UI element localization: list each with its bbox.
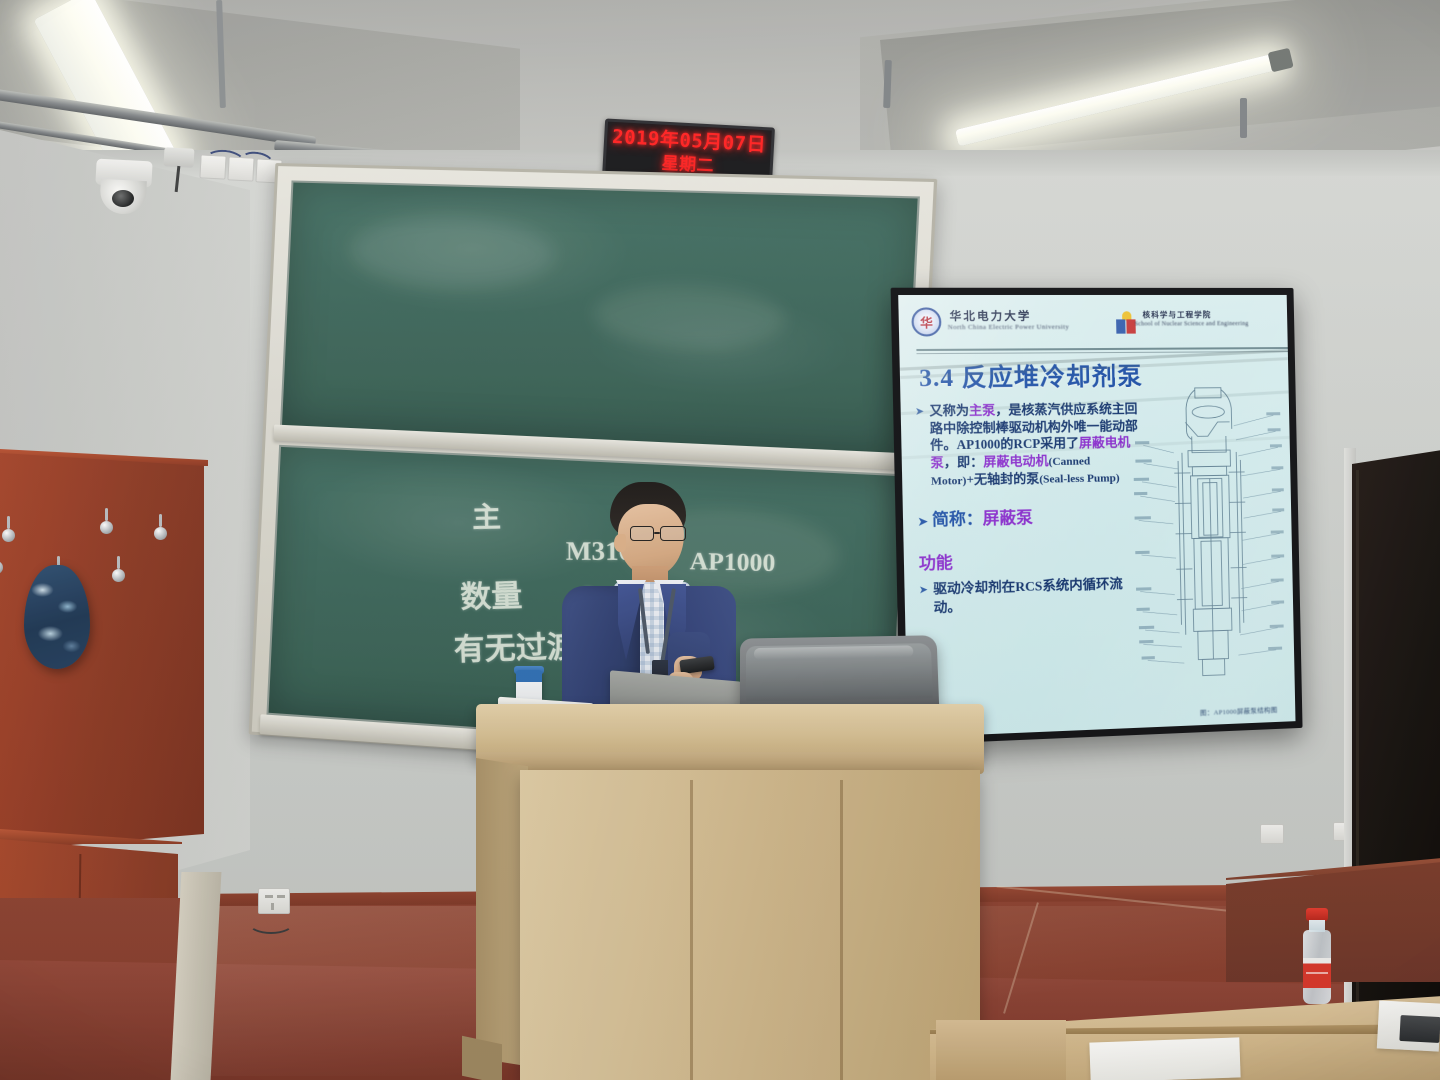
lectern-foot [462,1036,502,1080]
bottle-label [1303,958,1331,988]
hanging-bag[interactable] [24,565,90,669]
eyeglasses-icon [630,526,688,542]
lectern-body[interactable] [520,770,980,1080]
slide-short-name: ➤ 简称：屏蔽泵 [918,501,1147,531]
short-name-label: 简称： [932,510,983,529]
bullet-tail: ，即： [944,454,984,469]
slide-function-heading: 功能 [919,543,1148,573]
pump-diagram-svg [1132,381,1289,687]
presenter-ear [614,534,626,552]
short-name-value: 屏蔽泵 [982,509,1033,528]
lectern-panel-seam [690,780,693,1080]
university-name-cn: 华北电力大学 [949,307,1031,324]
coat-hook[interactable] [2,516,15,542]
coat-hook[interactable] [154,514,167,540]
slide-body: 又称为主泵，是核蒸汽供应系统主回路中除控制棒驱动机构外唯一能动部件。AP1000… [915,401,1148,622]
classroom-photo: 2019年05月07日 星期二 10:21:02 主 M310. AP1000 … [0,0,1440,1080]
wall-outlet[interactable] [258,888,290,914]
school-name-cn: 核科学与工程学院 [1142,309,1211,320]
figure-caption: 图：AP1000屏蔽泵结构图 [1200,704,1278,717]
pipe-hanger [1240,98,1247,138]
slide-title: 3.4 反应堆冷却剂泵 [919,356,1143,394]
slide-header: 华 华北电力大学 North China Electric Power Univ… [911,305,1278,364]
coat-hook[interactable] [0,548,3,574]
lectern-panel-seam [840,780,843,1080]
power-cord [248,912,294,934]
projection-screen: 华 华北电力大学 North China Electric Power Univ… [891,288,1303,745]
coat-hook[interactable] [100,508,113,534]
bullet-english: (Seal-less Pump) [1039,472,1120,486]
chalk-smudge [592,283,786,352]
front-desk-left[interactable] [936,1020,1066,1080]
bullet-highlight: 主泵 [969,403,996,418]
coat-hook[interactable] [112,556,125,582]
school-name-en: School of Nuclear Science and Engineerin… [1135,321,1249,327]
presentation-slide: 华 华北电力大学 North China Electric Power Univ… [898,295,1295,738]
paper-sheet[interactable] [1089,1037,1240,1080]
university-logo-icon: 华 [911,307,941,336]
header-divider [916,351,1295,354]
bullet-plus: +无轴封的泵 [966,471,1039,487]
laptop-keyboard[interactable] [1399,1015,1440,1043]
junction-box [164,147,195,168]
university-name-en: North China Electric Power University [948,324,1070,332]
blackboard-upper-panel [280,180,920,457]
wall-outlet[interactable] [1260,824,1284,844]
pump-cross-section-diagram [1132,381,1289,687]
bullet-lead: 又称为 [929,403,969,418]
bullet-highlight: 屏蔽电动机 [983,453,1049,468]
camera-lens-icon [112,190,134,207]
chalk-smudge [349,214,557,291]
slide-bullet: 又称为主泵，是核蒸汽供应系统主回路中除控制棒驱动机构外唯一能动部件。AP1000… [915,401,1146,491]
slide-function-text: 驱动冷却剂在RCS系统内循环流动。 [919,574,1149,618]
logo-letter: 华 [920,313,933,331]
water-bottle[interactable] [1302,908,1332,1004]
